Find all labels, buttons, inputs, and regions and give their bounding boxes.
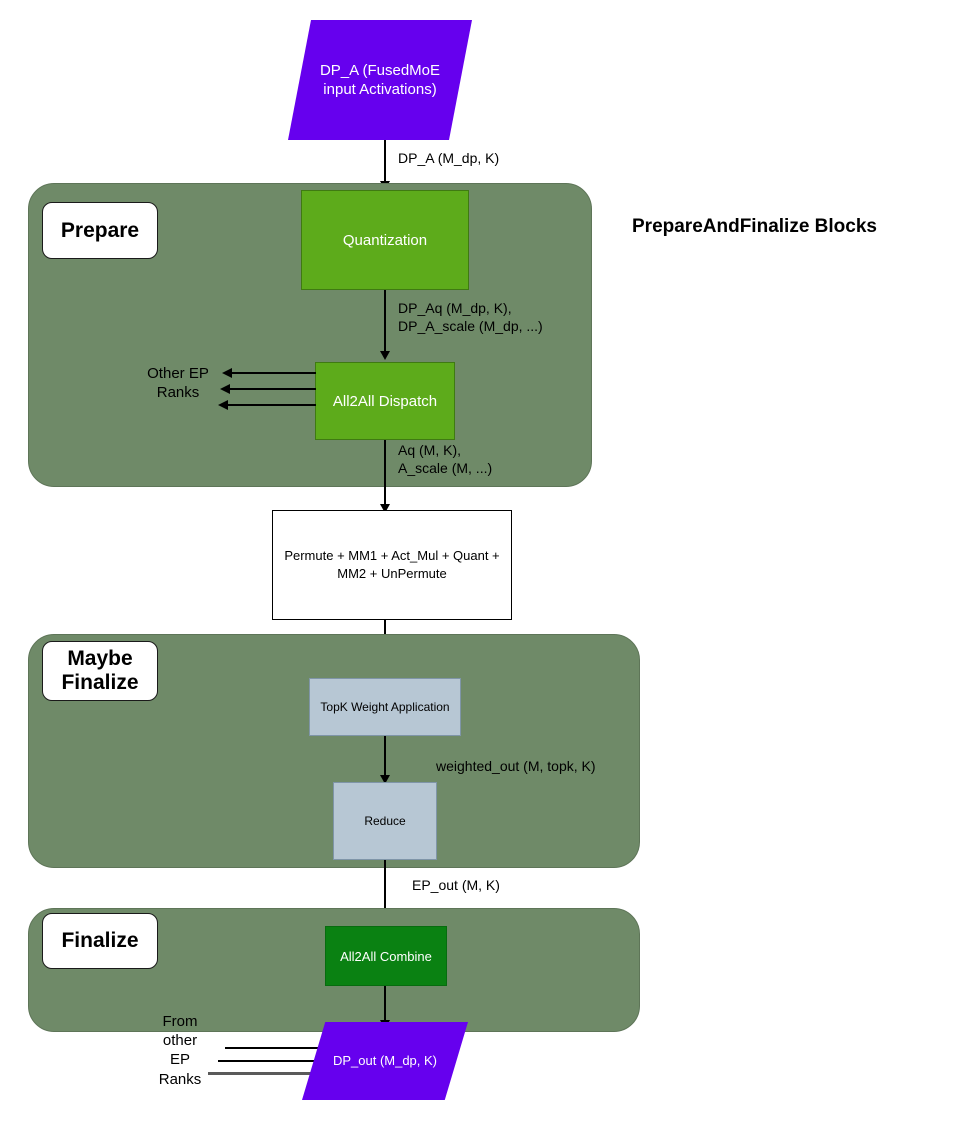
label-other-ep-ranks: Other EP Ranks [138, 364, 218, 402]
flowchart-canvas: PrepareAndFinalize Blocks DP_A (FusedMoE… [0, 0, 971, 1121]
diagram-title: PrepareAndFinalize Blocks [632, 216, 877, 238]
group-label-prepare: Prepare [42, 202, 158, 259]
edge-quantization-to-dispatch [384, 290, 386, 352]
arrow-left-icon [218, 400, 228, 410]
edge-label-dp-a-to-quant: DP_A (M_dp, K) [398, 149, 499, 167]
node-dp-a[interactable]: DP_A (FusedMoE input Activations) [288, 20, 472, 140]
node-all2all-combine[interactable]: All2All Combine [325, 926, 447, 986]
edge-label-dispatch-to-experts: Aq (M, K), A_scale (M, ...) [398, 441, 492, 477]
edge-ranks-to-dp-out-2 [218, 1060, 318, 1062]
edge-dispatch-to-ranks-2 [230, 388, 316, 390]
edge-dp-a-to-quantization [384, 140, 386, 182]
node-all2all-dispatch[interactable]: All2All Dispatch [315, 362, 455, 440]
arrow-down-icon [380, 351, 390, 360]
edge-combine-to-dp-out [384, 986, 386, 1022]
arrow-left-icon [220, 384, 230, 394]
node-topk-weight-application[interactable]: TopK Weight Application [309, 678, 461, 736]
edge-label-reduce-to-combine: EP_out (M, K) [412, 876, 500, 894]
node-reduce[interactable]: Reduce [333, 782, 437, 860]
edge-ranks-to-dp-out-3 [208, 1072, 313, 1075]
node-expert-compute[interactable]: Permute + MM1 + Act_Mul + Quant + MM2 + … [272, 510, 512, 620]
edge-dispatch-to-experts [384, 440, 386, 508]
edge-label-topk-to-reduce: weighted_out (M, topk, K) [436, 757, 596, 775]
edge-ranks-to-dp-out-1 [225, 1047, 326, 1049]
edge-dispatch-to-ranks-1 [232, 372, 316, 374]
node-dp-out[interactable]: DP_out (M_dp, K) [302, 1022, 468, 1100]
group-label-finalize: Finalize [42, 913, 158, 969]
edge-label-quant-to-dispatch: DP_Aq (M_dp, K), DP_A_scale (M_dp, ...) [398, 299, 543, 335]
group-label-maybe-finalize: Maybe Finalize [42, 641, 158, 701]
node-quantization[interactable]: Quantization [301, 190, 469, 290]
label-from-other-ep-ranks: From other EP Ranks [150, 1012, 210, 1089]
arrow-left-icon [222, 368, 232, 378]
edge-dispatch-to-ranks-3 [228, 404, 316, 406]
